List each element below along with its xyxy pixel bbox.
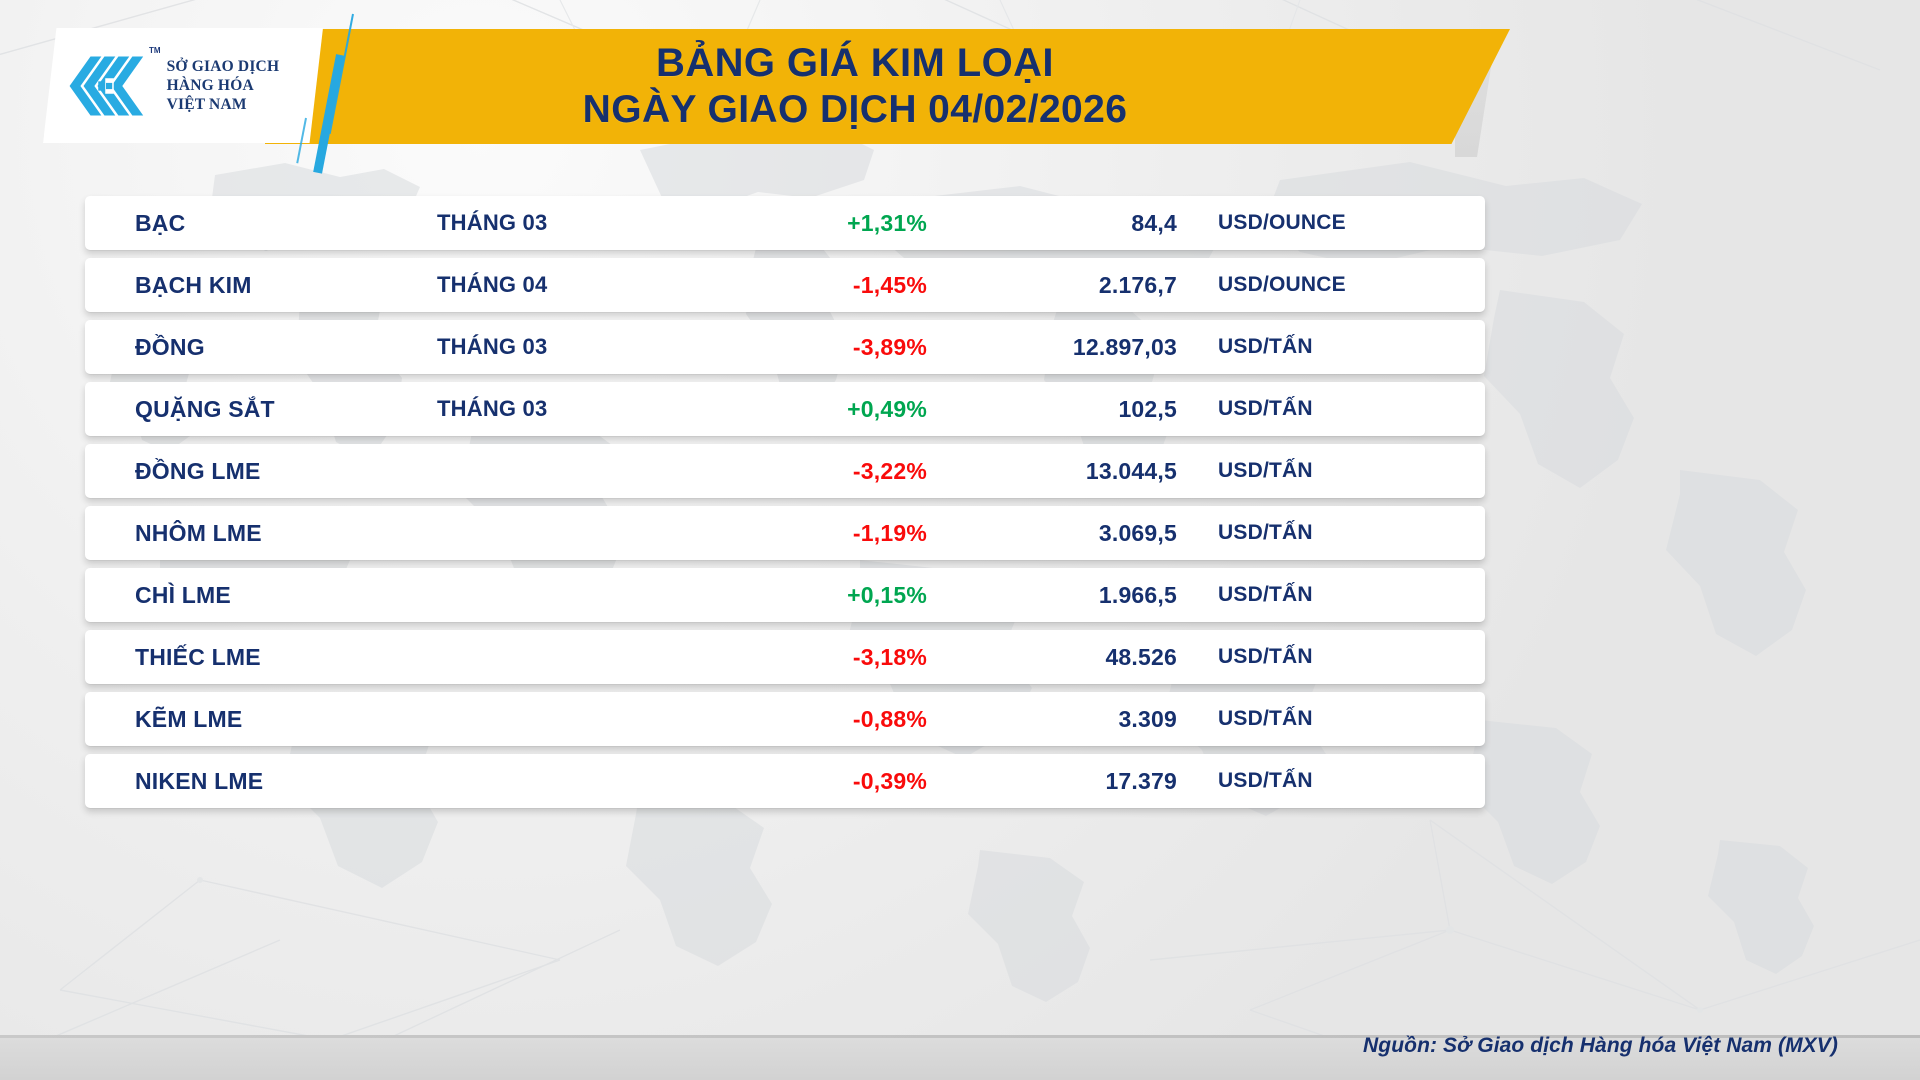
- cell-unit: USD/TẤN: [1177, 521, 1485, 545]
- title-line-2: NGÀY GIAO DỊCH 04/02/2026: [583, 89, 1128, 132]
- cell-change-percent: -3,22%: [677, 458, 927, 485]
- cell-price: 102,5: [927, 396, 1177, 423]
- source-note: Nguồn: Sở Giao dịch Hàng hóa Việt Nam (M…: [1363, 1034, 1838, 1058]
- table-row[interactable]: BẠCH KIMTHÁNG 04-1,45%2.176,7USD/OUNCE: [85, 258, 1485, 312]
- brand-name-line-3: VIỆT NAM: [167, 95, 280, 114]
- mxv-chevron-logo-icon: [67, 55, 145, 117]
- cell-unit: USD/OUNCE: [1177, 211, 1485, 235]
- cell-contract-month: THÁNG 03: [437, 334, 677, 360]
- cell-commodity-name: THIẾC LME: [85, 644, 437, 671]
- cell-unit: USD/TẤN: [1177, 769, 1485, 793]
- cell-contract-month: THÁNG 03: [437, 396, 677, 422]
- trademark-icon: TM: [149, 46, 161, 55]
- table-row[interactable]: NHÔM LME-1,19%3.069,5USD/TẤN: [85, 506, 1485, 560]
- cell-price: 17.379: [927, 768, 1177, 795]
- brand-name-line-1: SỞ GIAO DỊCH: [167, 57, 280, 76]
- cell-commodity-name: ĐỒNG: [85, 334, 437, 361]
- cell-change-percent: -0,88%: [677, 706, 927, 733]
- table-row[interactable]: CHÌ LME+0,15%1.966,5USD/TẤN: [85, 568, 1485, 622]
- cell-unit: USD/TẤN: [1177, 583, 1485, 607]
- cell-contract-month: THÁNG 03: [437, 210, 677, 236]
- cell-price: 1.966,5: [927, 582, 1177, 609]
- cell-change-percent: +0,49%: [677, 396, 927, 423]
- cell-unit: USD/OUNCE: [1177, 273, 1485, 297]
- cell-price: 3.069,5: [927, 520, 1177, 547]
- cell-price: 48.526: [927, 644, 1177, 671]
- table-row[interactable]: NIKEN LME-0,39%17.379USD/TẤN: [85, 754, 1485, 808]
- cell-unit: USD/TẤN: [1177, 335, 1485, 359]
- table-row[interactable]: KẼM LME-0,88%3.309USD/TẤN: [85, 692, 1485, 746]
- title-line-1: BẢNG GIÁ KIM LOẠI: [656, 41, 1054, 85]
- cell-unit: USD/TẤN: [1177, 397, 1485, 421]
- cell-commodity-name: QUẶNG SẮT: [85, 396, 437, 423]
- table-row[interactable]: ĐỒNG LME-3,22%13.044,5USD/TẤN: [85, 444, 1485, 498]
- cell-price: 13.044,5: [927, 458, 1177, 485]
- cell-commodity-name: BẠC: [85, 210, 437, 237]
- cell-unit: USD/TẤN: [1177, 707, 1485, 731]
- cell-change-percent: -3,18%: [677, 644, 927, 671]
- brand-name: SỞ GIAO DỊCH HÀNG HÓA VIỆT NAM: [167, 57, 280, 115]
- cell-price: 2.176,7: [927, 272, 1177, 299]
- brand-name-line-2: HÀNG HÓA: [167, 76, 280, 95]
- cell-commodity-name: CHÌ LME: [85, 582, 437, 609]
- cell-commodity-name: BẠCH KIM: [85, 272, 437, 299]
- cell-change-percent: -0,39%: [677, 768, 927, 795]
- cell-commodity-name: NHÔM LME: [85, 520, 437, 547]
- cell-change-percent: +1,31%: [677, 210, 927, 237]
- page-header: BẢNG GIÁ KIM LOẠI NGÀY GIAO DỊCH 04/02/2…: [0, 0, 1920, 160]
- table-row[interactable]: THIẾC LME-3,18%48.526USD/TẤN: [85, 630, 1485, 684]
- metal-price-table: BẠCTHÁNG 03+1,31%84,4USD/OUNCEBẠCH KIMTH…: [85, 196, 1485, 816]
- cell-unit: USD/TẤN: [1177, 645, 1485, 669]
- page-title: BẢNG GIÁ KIM LOẠI NGÀY GIAO DỊCH 04/02/2…: [265, 24, 1445, 148]
- cell-change-percent: -1,45%: [677, 272, 927, 299]
- cell-change-percent: +0,15%: [677, 582, 927, 609]
- cell-unit: USD/TẤN: [1177, 459, 1485, 483]
- cell-commodity-name: KẼM LME: [85, 706, 437, 733]
- cell-commodity-name: ĐỒNG LME: [85, 458, 437, 485]
- table-row[interactable]: QUẶNG SẮTTHÁNG 03+0,49%102,5USD/TẤN: [85, 382, 1485, 436]
- cell-change-percent: -1,19%: [677, 520, 927, 547]
- cell-commodity-name: NIKEN LME: [85, 768, 437, 795]
- cell-price: 12.897,03: [927, 334, 1177, 361]
- table-row[interactable]: ĐỒNGTHÁNG 03-3,89%12.897,03USD/TẤN: [85, 320, 1485, 374]
- cell-contract-month: THÁNG 04: [437, 272, 677, 298]
- cell-price: 3.309: [927, 706, 1177, 733]
- cell-price: 84,4: [927, 210, 1177, 237]
- table-row[interactable]: BẠCTHÁNG 03+1,31%84,4USD/OUNCE: [85, 196, 1485, 250]
- cell-change-percent: -3,89%: [677, 334, 927, 361]
